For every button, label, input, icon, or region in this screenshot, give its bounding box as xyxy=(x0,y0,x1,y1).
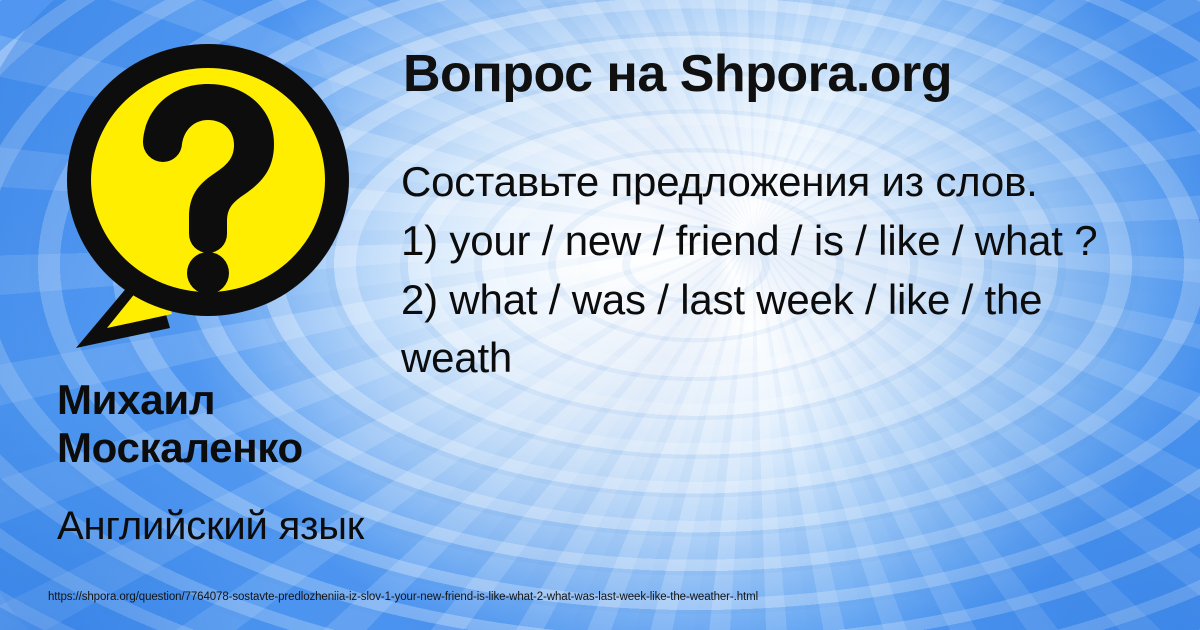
question-prompt: Составьте предложения из слов. xyxy=(401,153,1101,212)
author-name: Михаил Москаленко xyxy=(57,376,457,472)
card-content: Вопрос на Shpora.org Составьте предложен… xyxy=(0,0,1200,630)
author-first-name: Михаил xyxy=(57,376,457,424)
author-last-name: Москаленко xyxy=(57,424,457,472)
question-item-2: 2) what / was / last week / like / the w… xyxy=(401,271,1101,389)
source-url[interactable]: https://shpora.org/question/7764078-sost… xyxy=(48,591,758,603)
question-speech-bubble-icon xyxy=(58,28,358,358)
question-text-block: Составьте предложения из слов. 1) your /… xyxy=(401,153,1101,388)
subject-label: Английский язык xyxy=(57,504,364,549)
question-share-card: Вопрос на Shpora.org Составьте предложен… xyxy=(0,0,1200,630)
question-item-1: 1) your / new / friend / is / like / wha… xyxy=(401,212,1101,271)
page-title: Вопрос на Shpora.org xyxy=(403,47,952,102)
